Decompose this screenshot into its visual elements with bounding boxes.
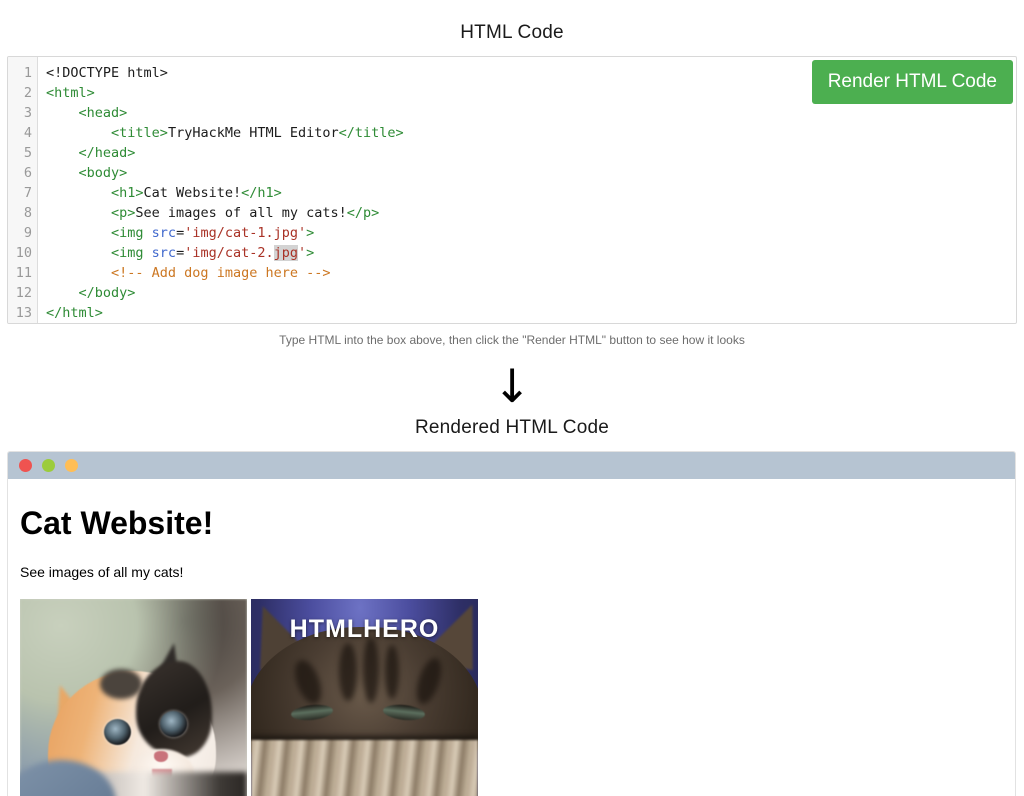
minimize-dot-icon[interactable] <box>42 459 55 472</box>
code-token: src <box>152 225 176 241</box>
browser-chrome-bar <box>8 452 1015 479</box>
code-token: jpg <box>274 245 298 261</box>
code-token: </p> <box>347 205 380 221</box>
line-number: 10 <box>8 243 37 263</box>
line-number: 3 <box>8 103 37 123</box>
code-line: </html> <box>46 303 1016 323</box>
code-token: > <box>306 225 314 241</box>
code-token: <img <box>111 225 152 241</box>
code-token: </html> <box>46 305 103 321</box>
code-token: <html> <box>46 85 95 101</box>
rendered-page-body: Cat Website! See images of all my cats! <box>8 479 1015 796</box>
code-line: <body> <box>46 163 1016 183</box>
line-number-gutter: 12345678910111213 <box>8 57 38 323</box>
photo2-basket <box>251 740 478 796</box>
photo1-right-eye <box>160 711 187 737</box>
maximize-dot-icon[interactable] <box>65 459 78 472</box>
close-dot-icon[interactable] <box>19 459 32 472</box>
photo2-stripe <box>385 645 399 699</box>
code-token: See images of all my cats! <box>135 205 346 221</box>
line-number: 7 <box>8 183 37 203</box>
line-number: 12 <box>8 283 37 303</box>
code-line: <p>See images of all my cats!</p> <box>46 203 1016 223</box>
code-line: </head> <box>46 143 1016 163</box>
code-token: </title> <box>339 125 404 141</box>
line-number: 6 <box>8 163 37 183</box>
photo2-stripe <box>363 637 379 703</box>
code-line: <!-- Add dog image here --> <box>46 263 1016 283</box>
code-token: <!-- Add dog image here --> <box>111 265 330 281</box>
code-token: <head> <box>79 105 128 121</box>
down-arrow-icon: ↓ <box>0 347 1024 409</box>
code-token: <!DOCTYPE html> <box>46 65 168 81</box>
line-number: 2 <box>8 83 37 103</box>
code-token: 'img/cat-2. <box>184 245 273 261</box>
page-title-rendered-code: Rendered HTML Code <box>0 409 1024 451</box>
line-number: 13 <box>8 303 37 323</box>
line-number: 9 <box>8 223 37 243</box>
cat-image-2: HTMLHERO <box>251 599 478 796</box>
code-line: <img src='img/cat-1.jpg'> <box>46 223 1016 243</box>
line-number: 4 <box>8 123 37 143</box>
line-number: 8 <box>8 203 37 223</box>
code-token: 'img/cat-1.jpg' <box>184 225 306 241</box>
code-token: = <box>176 245 184 261</box>
page-title-html-code: HTML Code <box>0 0 1024 56</box>
photo1-nose <box>154 751 168 762</box>
code-line: <head> <box>46 103 1016 123</box>
photo1-dark-patch <box>136 661 212 757</box>
code-token: ' <box>298 245 306 261</box>
code-line: <img src='img/cat-2.jpg'> <box>46 243 1016 263</box>
code-token: <title> <box>111 125 168 141</box>
line-number: 11 <box>8 263 37 283</box>
editor-hint-text: Type HTML into the box above, then click… <box>0 324 1024 347</box>
code-line: </body> <box>46 283 1016 303</box>
code-line: <title>TryHackMe HTML Editor</title> <box>46 123 1016 143</box>
line-number: 5 <box>8 143 37 163</box>
code-token: <p> <box>111 205 135 221</box>
code-token: <img <box>111 245 152 261</box>
line-number: 1 <box>8 63 37 83</box>
cat-image-1 <box>20 599 247 796</box>
code-token: TryHackMe HTML Editor <box>168 125 339 141</box>
code-token: </h1> <box>241 185 282 201</box>
rendered-preview-panel: Cat Website! See images of all my cats! <box>7 451 1016 796</box>
code-token: </body> <box>79 285 136 301</box>
photo1-left-eye <box>104 719 131 745</box>
code-token: > <box>306 245 314 261</box>
photo1-forehead-patch <box>100 669 142 699</box>
rendered-paragraph: See images of all my cats! <box>20 564 1003 580</box>
code-line: <h1>Cat Website!</h1> <box>46 183 1016 203</box>
render-html-code-button[interactable]: Render HTML Code <box>812 60 1013 104</box>
rendered-image-row: HTMLHERO <box>20 599 1003 796</box>
code-token: = <box>176 225 184 241</box>
code-token: </head> <box>79 145 136 161</box>
code-token: src <box>152 245 176 261</box>
code-editor[interactable]: 12345678910111213 <!DOCTYPE html><html> … <box>7 56 1017 324</box>
code-token: Cat Website! <box>144 185 242 201</box>
code-token: <h1> <box>111 185 144 201</box>
code-token: <body> <box>79 165 128 181</box>
photo2-overlay-text: HTMLHERO <box>251 615 478 644</box>
photo2-stripe <box>339 643 357 701</box>
rendered-heading: Cat Website! <box>20 505 1003 542</box>
